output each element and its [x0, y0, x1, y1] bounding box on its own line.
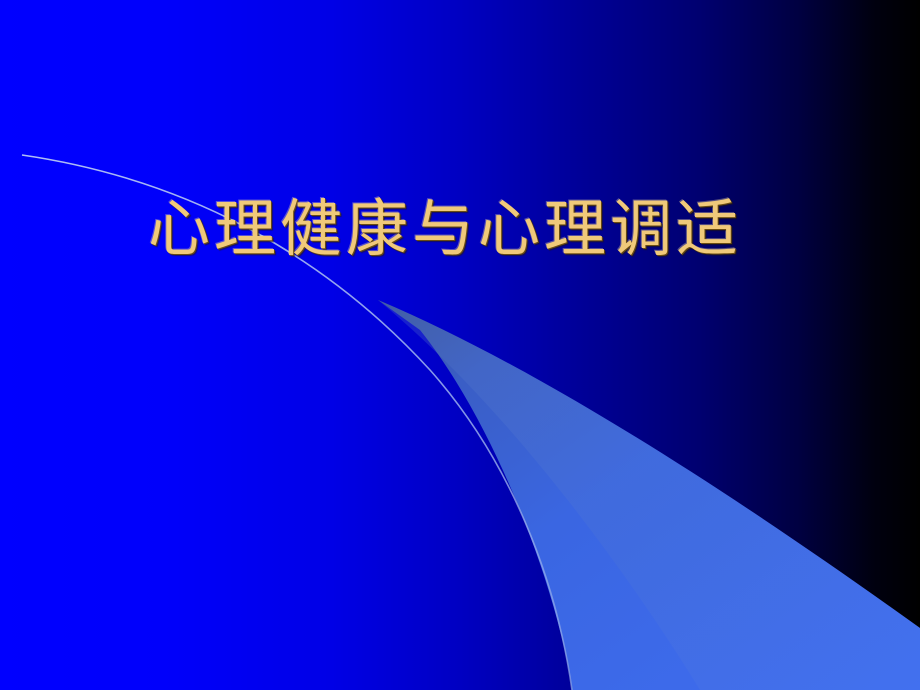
slide-background — [0, 0, 920, 690]
slide-title: 心理健康与心理调适 — [148, 196, 742, 261]
title-block: 心理健康与心理调适 — [0, 196, 920, 261]
title-slide: 心理健康与心理调适 — [0, 0, 920, 690]
